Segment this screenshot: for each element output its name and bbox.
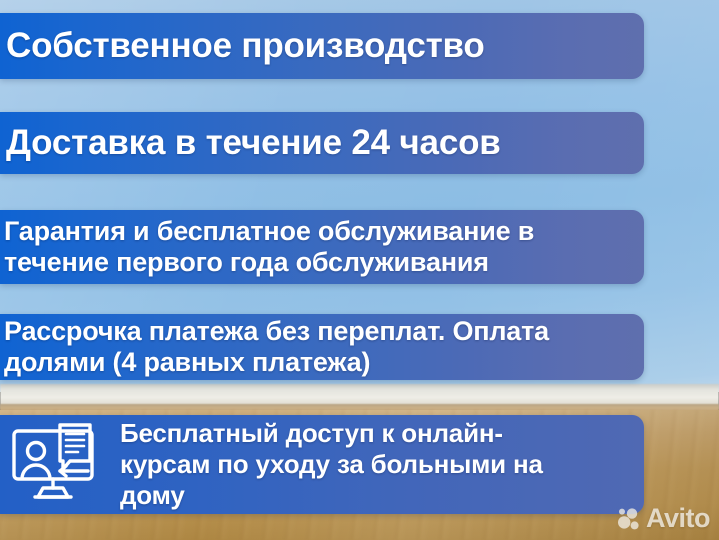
- benefit-bar-own-production: Собственное производство: [0, 13, 644, 79]
- benefit-text-delivery-24h: Доставка в течение 24 часов: [6, 123, 501, 164]
- benefit-text-warranty-free-service: Гарантия и бесплатное обслуживание в теч…: [4, 216, 534, 279]
- benefit-bar-warranty-free-service: Гарантия и бесплатное обслуживание в теч…: [0, 210, 644, 284]
- benefit-text-free-online-courses: Бесплатный доступ к онлайн- курсам по ух…: [120, 418, 543, 510]
- benefit-bar-free-online-courses: Бесплатный доступ к онлайн- курсам по ух…: [0, 415, 644, 514]
- online-course-monitor-icon: [8, 423, 104, 507]
- benefit-bar-delivery-24h: Доставка в течение 24 часов: [0, 112, 644, 174]
- benefit-text-own-production: Собственное производство: [6, 26, 485, 67]
- benefit-bar-installment-payment: Рассрочка платежа без переплат. Оплата д…: [0, 314, 644, 380]
- benefit-text-installment-payment: Рассрочка платежа без переплат. Оплата д…: [4, 316, 549, 379]
- banner-image: Собственное производство Доставка в тече…: [0, 0, 719, 540]
